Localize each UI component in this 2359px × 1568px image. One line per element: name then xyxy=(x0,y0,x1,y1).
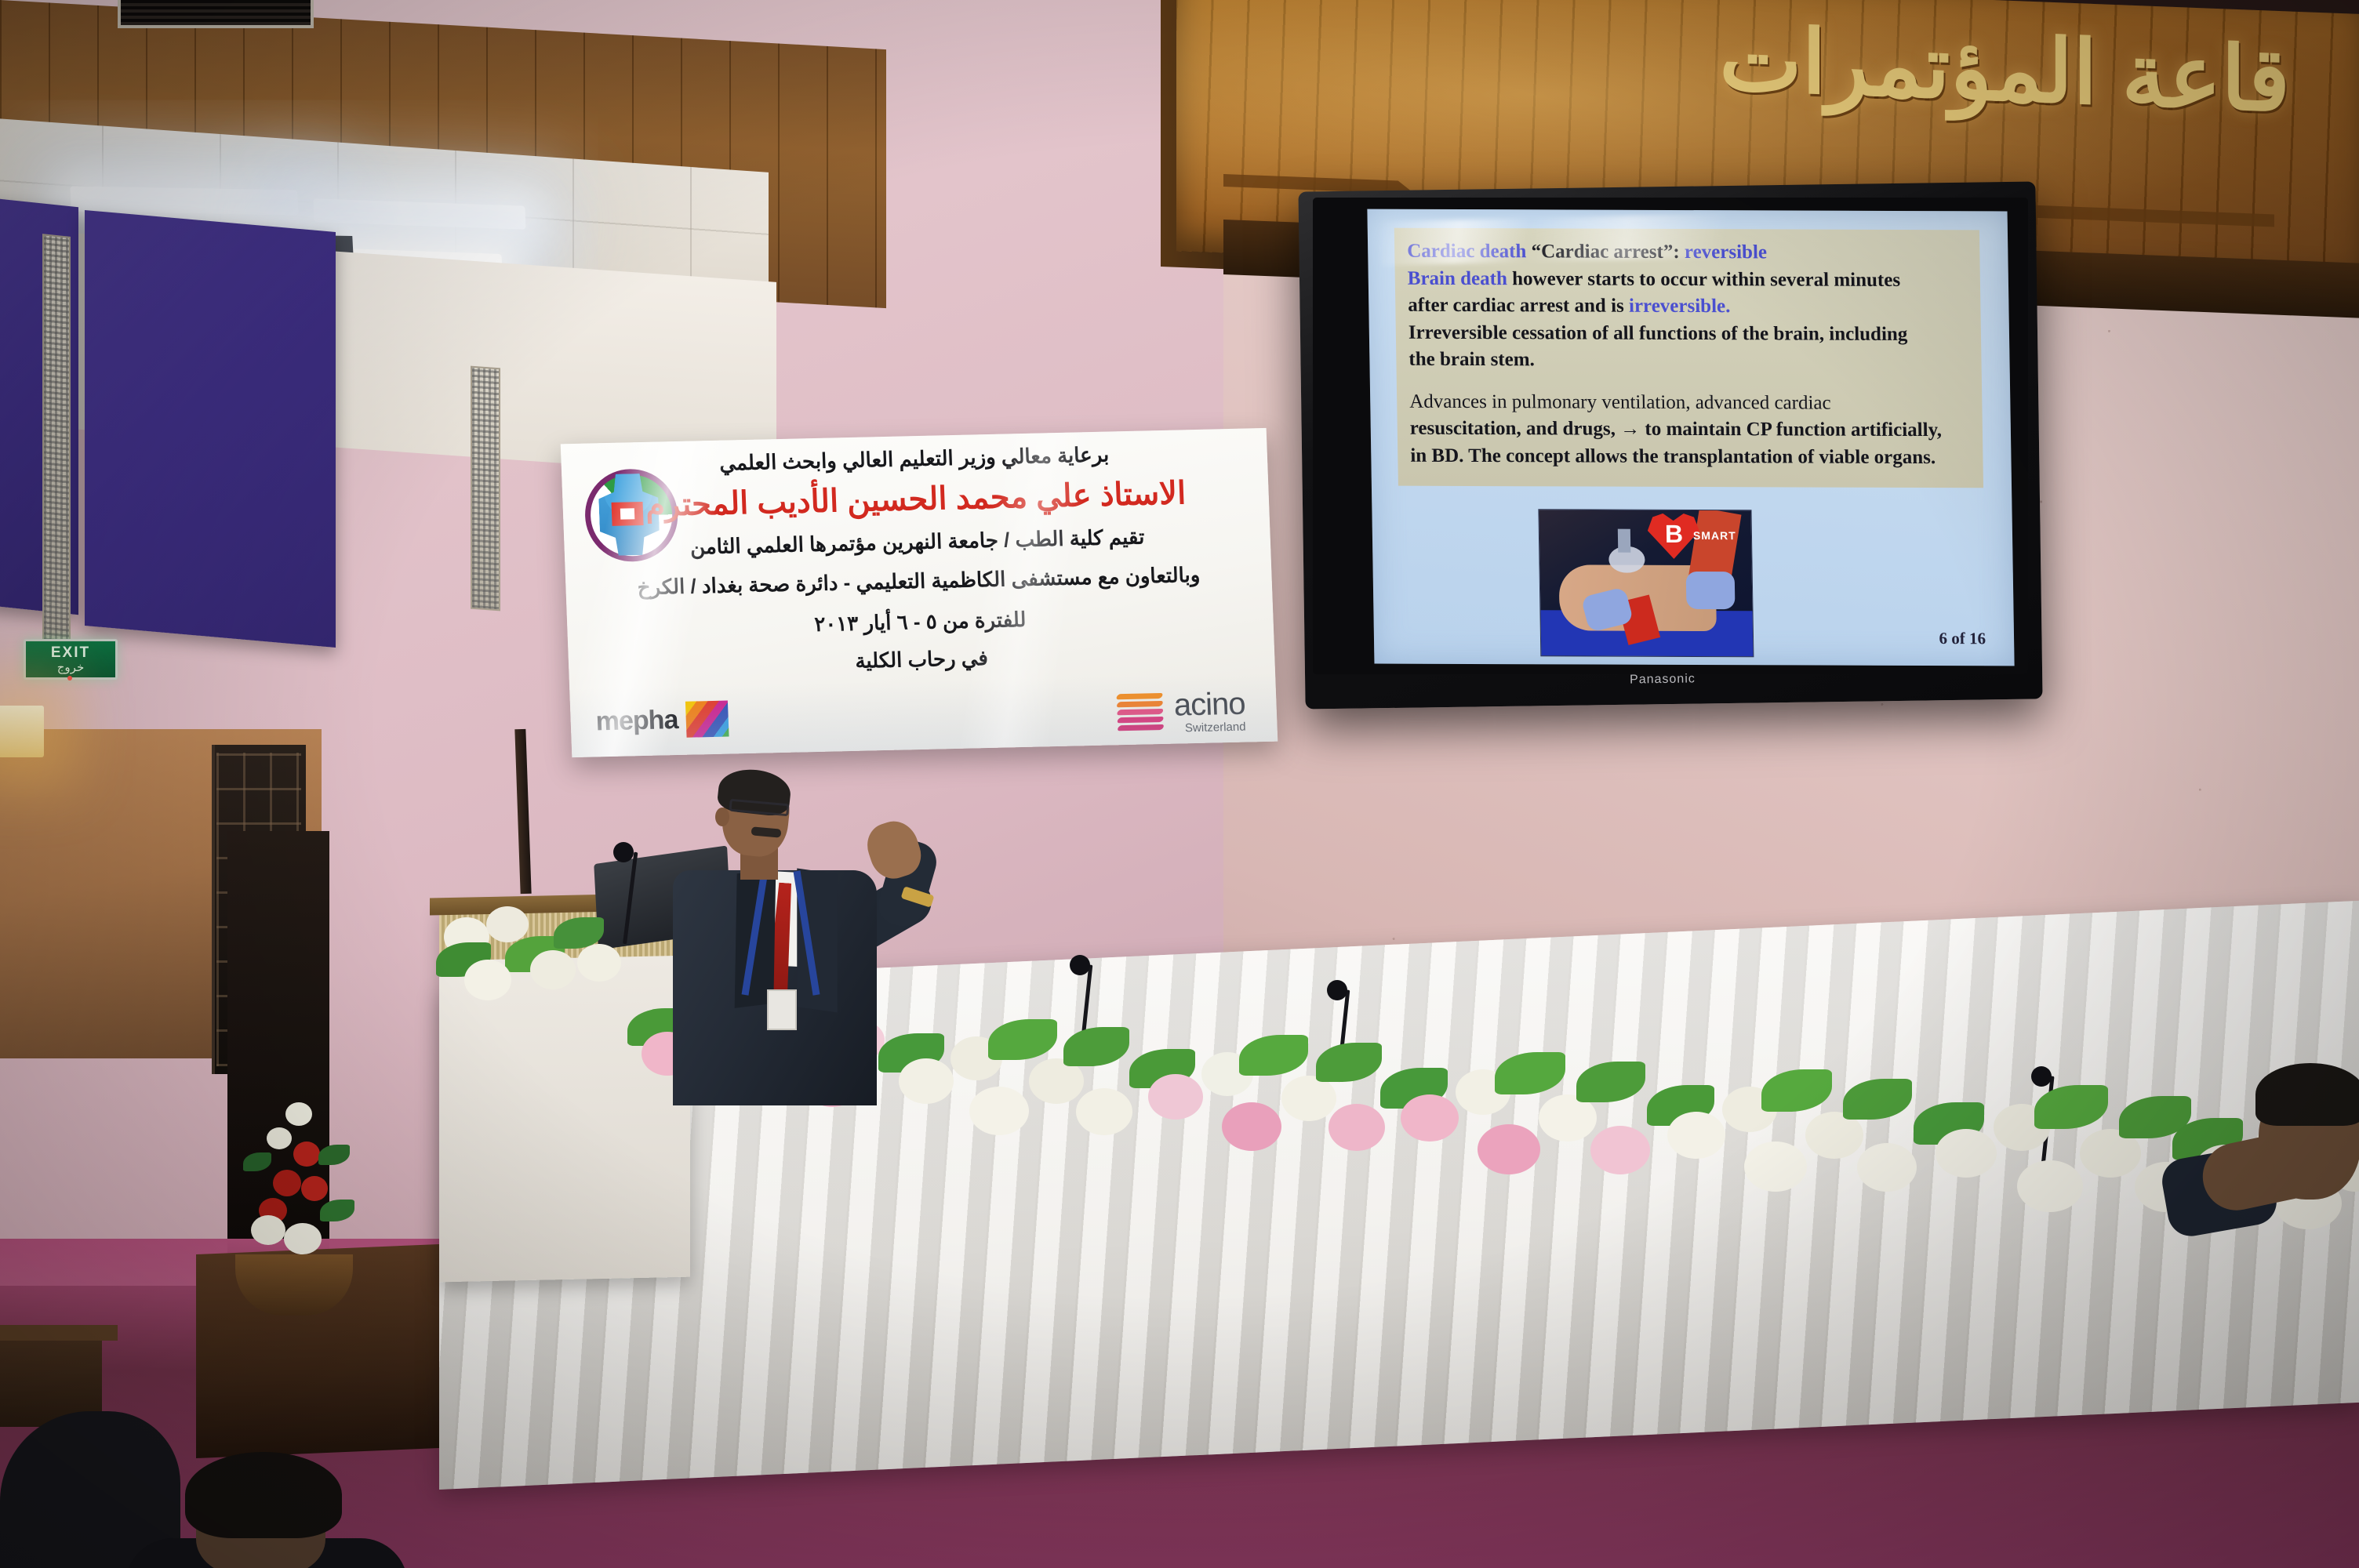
slide-text-after-arrest: after cardiac arrest and is xyxy=(1408,295,1629,317)
sponsor-name-acino: acino xyxy=(1173,688,1245,721)
mepha-rainbow-icon xyxy=(685,701,729,738)
ceiling-vent xyxy=(118,0,314,28)
floral-garland xyxy=(1914,1076,2212,1240)
wall-speaker-grille xyxy=(471,366,500,612)
conference-banner: برعاية معالي وزير التعليم العالي وابحث ا… xyxy=(561,428,1278,757)
slide-line-1: Cardiac death “Cardiac arrest”: reversib… xyxy=(1407,239,1968,266)
slide-para2-line-3: in BD. The concept allows the transplant… xyxy=(1410,443,1971,470)
slide-page-indicator: 6 of 16 xyxy=(1939,629,1986,648)
floral-garland xyxy=(878,1010,1145,1159)
sponsor-logo-acino: acino Switzerland xyxy=(1117,688,1246,736)
ceiling-light xyxy=(70,186,298,215)
flower-basket-arrangement xyxy=(243,1098,353,1262)
slide-line-3: after cardiac arrest and is irreversible… xyxy=(1408,293,1968,320)
sponsor-name-mepha: mepha xyxy=(595,705,678,737)
sponsor-logo-mepha: mepha xyxy=(595,701,729,740)
slide-text-block: Cardiac death “Cardiac arrest”: reversib… xyxy=(1394,228,1983,488)
seated-person-hair xyxy=(2255,1063,2359,1126)
slide-cpr-photo: B SMART xyxy=(1538,509,1754,657)
exit-sign: EXIT خروج xyxy=(24,639,118,680)
microphone-head xyxy=(1327,980,1347,1000)
slide-text-occur-minutes: however starts to occur within several m… xyxy=(1507,268,1901,291)
floral-garland xyxy=(1647,1060,1929,1217)
banner-line-dates: للفترة من ٥ - ٦ أيار ٢٠١٣ xyxy=(567,602,1274,642)
slide-term-irreversible: irreversible. xyxy=(1629,296,1731,317)
banner-line-cooperation: وبالتعاون مع مستشفى الكاظمية التعليمي - … xyxy=(565,561,1272,601)
sponsor-sub-acino: Switzerland xyxy=(1185,721,1246,735)
cpr-logo-letter: B xyxy=(1665,520,1684,549)
display-brand-label: Panasonic xyxy=(1584,672,1741,693)
banner-line-patronage: برعاية معالي وزير التعليم العالي وابحث ا… xyxy=(561,439,1267,479)
slide-term-reversible: reversible xyxy=(1685,241,1768,263)
wall-sconce-light xyxy=(0,706,44,757)
microphone-head xyxy=(613,842,634,862)
exit-sign-label-arabic: خروج xyxy=(57,662,84,673)
audience-member-hair xyxy=(185,1452,342,1538)
slide-term-cardiac-death: Cardiac death xyxy=(1407,241,1532,263)
floral-garland xyxy=(1380,1043,1663,1200)
side-table-top xyxy=(0,1325,118,1341)
slide-line-4: Irreversible cessation of all functions … xyxy=(1408,320,1969,347)
banner-line-minister-name: الاستاذ علي محمد الحسين الأديب المحترم xyxy=(562,474,1270,525)
exit-sign-label-english: EXIT xyxy=(51,645,90,660)
slide-text-cardiac-arrest: “Cardiac arrest”: xyxy=(1531,241,1685,263)
wall-speaker-grille xyxy=(42,234,71,644)
slide-line-2: Brain death however starts to occur with… xyxy=(1408,266,1968,292)
microphone-head xyxy=(1070,955,1090,975)
acoustic-panel xyxy=(85,210,336,648)
speaker-name-badge xyxy=(767,989,797,1030)
slide-line-5: the brain stem. xyxy=(1408,347,1969,374)
presentation-screen: Cardiac death “Cardiac arrest”: reversib… xyxy=(1367,209,2014,666)
cpr-bvm-valve xyxy=(1618,529,1630,553)
banner-line-location: في رحاب الكلية xyxy=(569,640,1275,680)
cpr-logo-word: SMART xyxy=(1693,529,1736,542)
conference-hall-photo: EXIT خروج قاعة المؤتمرات Cardiac death “… xyxy=(0,0,2359,1568)
exit-sign-indicator-led xyxy=(67,676,72,681)
cpr-glove-hand xyxy=(1686,572,1736,609)
slide-term-brain-death: Brain death xyxy=(1408,267,1508,289)
speaker-ear xyxy=(715,808,729,826)
floral-garland xyxy=(436,902,632,1011)
floral-garland xyxy=(1129,1025,1396,1174)
acino-wave-icon xyxy=(1117,691,1167,734)
slide-para2-line-1: Advances in pulmonary ventilation, advan… xyxy=(1409,389,1970,416)
slide-para2-line-2: resuscitation, and drugs, → to maintain … xyxy=(1410,416,1971,443)
